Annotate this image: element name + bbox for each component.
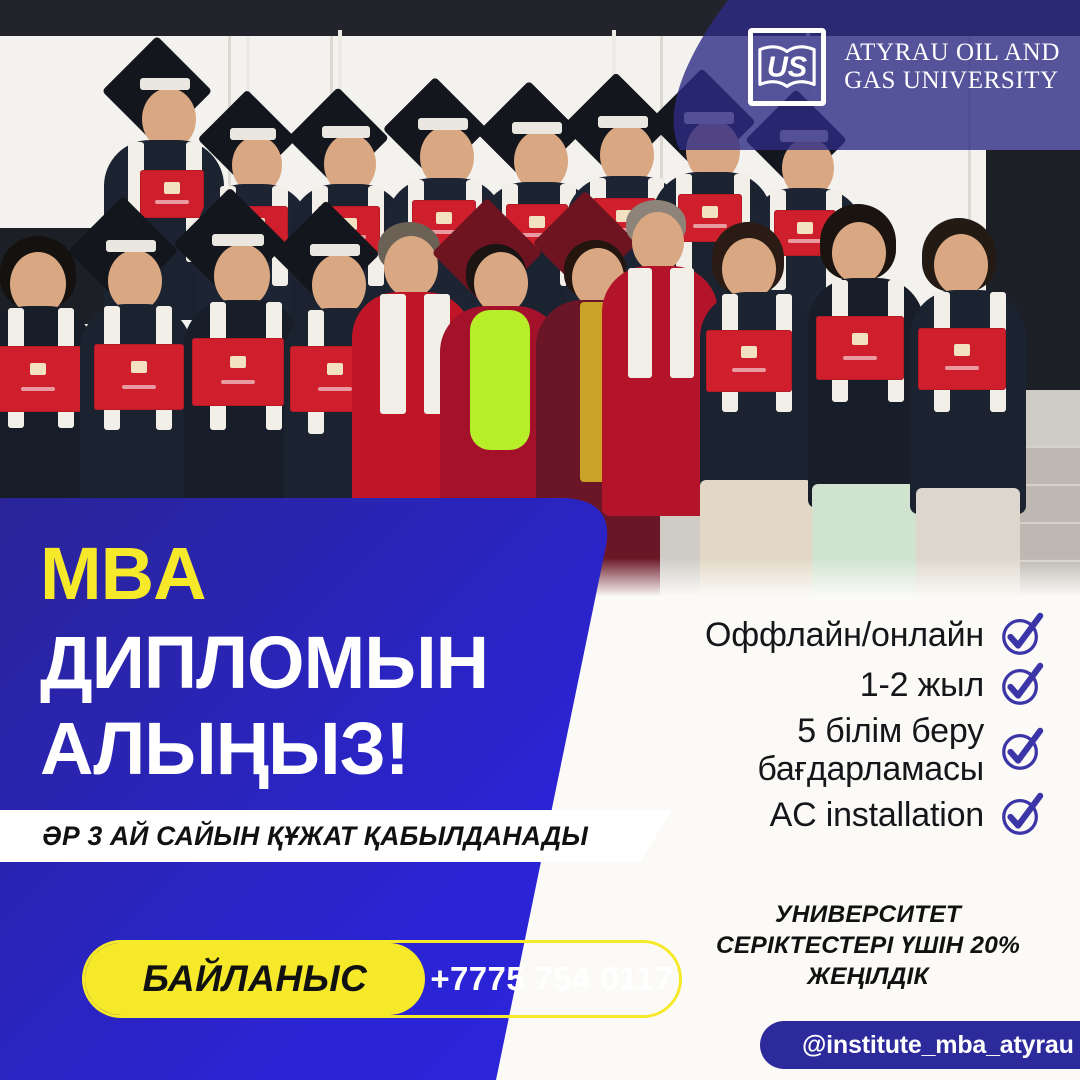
header-brand-band: US ATYRAU OIL AND GAS UNIVERSITY xyxy=(650,0,1080,150)
feature-item: 1-2 жыл xyxy=(624,662,1044,708)
instagram-bar[interactable]: @institute_mba_atyrau xyxy=(760,1021,1080,1069)
phone-number[interactable]: +7775 754 0117 xyxy=(425,960,679,998)
feature-item: AC installation xyxy=(624,792,1044,838)
poster-root: US ATYRAU OIL AND GAS UNIVERSITY MBA ДИП… xyxy=(0,0,1080,1080)
brand-logo: US ATYRAU OIL AND GAS UNIVERSITY xyxy=(748,28,1060,106)
feature-item: Оффлайн/онлайн xyxy=(624,612,1044,658)
intake-banner-text: ӘР 3 АЙ САЙЫН ҚҰЖАТ ҚАБЫЛДАНАДЫ xyxy=(42,821,588,852)
contact-button[interactable]: БАЙЛАНЫС xyxy=(85,943,425,1015)
feature-label: 1-2 жыл xyxy=(860,666,984,704)
headline-line-1: MBA xyxy=(40,536,660,611)
check-circle-icon xyxy=(998,612,1044,658)
discount-note: УНИВЕРСИТЕТ СЕРІКТЕСТЕРІ ҮШІН 20% ЖЕҢІЛД… xyxy=(698,900,1038,993)
intake-banner: ӘР 3 АЙ САЙЫН ҚҰЖАТ ҚАБЫЛДАНАДЫ xyxy=(0,810,672,862)
check-circle-icon xyxy=(998,727,1044,773)
feature-list: Оффлайн/онлайн 1-2 жыл 5 білім беру бағд… xyxy=(624,612,1044,838)
feature-item: 5 білім беру бағдарламасы xyxy=(624,712,1044,788)
brand-name: ATYRAU OIL AND GAS UNIVERSITY xyxy=(844,39,1060,96)
headline-line-3: АЛЫҢЫЗ! xyxy=(40,711,660,786)
headline-line-2: ДИПЛОМЫН xyxy=(40,625,660,700)
feature-label: Оффлайн/онлайн xyxy=(705,616,984,654)
svg-text:US: US xyxy=(767,52,808,84)
feature-label: AC installation xyxy=(770,796,984,834)
contact-pill[interactable]: БАЙЛАНЫС +7775 754 0117 xyxy=(82,940,682,1018)
check-circle-icon xyxy=(998,792,1044,838)
check-circle-icon xyxy=(998,662,1044,708)
feature-label: 5 білім беру бағдарламасы xyxy=(757,712,984,788)
instagram-handle[interactable]: @institute_mba_atyrau xyxy=(802,1031,1074,1060)
us-book-logo-icon: US xyxy=(748,28,826,106)
headline: MBA ДИПЛОМЫН АЛЫҢЫЗ! xyxy=(40,536,660,786)
